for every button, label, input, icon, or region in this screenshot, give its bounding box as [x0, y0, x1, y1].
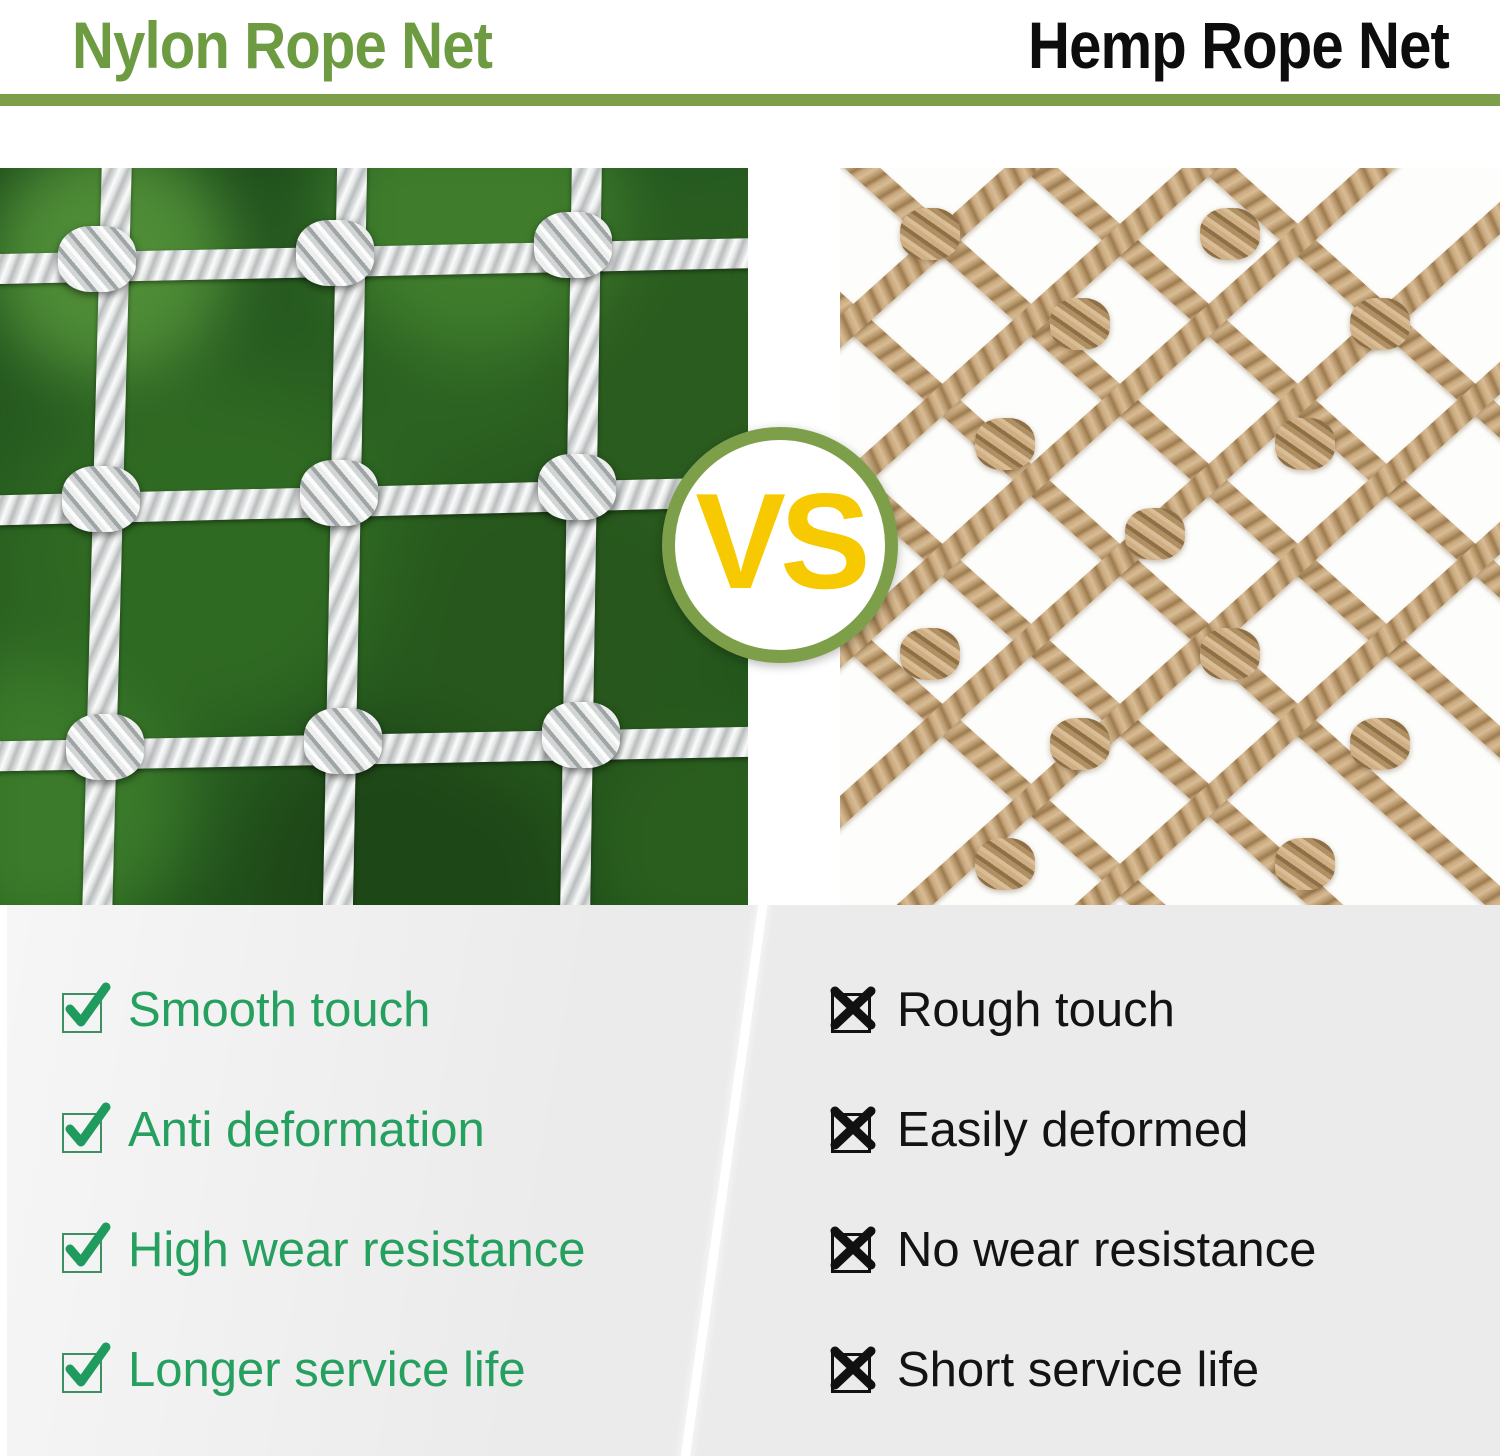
checkbox-checked-icon — [60, 1107, 106, 1153]
versus-label: VS — [695, 473, 864, 609]
list-item-label: Easily deformed — [897, 1102, 1248, 1158]
list-item: Longer service life — [60, 1331, 526, 1409]
list-item: No wear resistance — [829, 1211, 1316, 1289]
comparison-infographic: Nylon Rope Net Hemp Rope Net — [0, 0, 1500, 1456]
list-item: Easily deformed — [829, 1091, 1248, 1169]
hemp-rope-net-photo — [840, 168, 1500, 905]
checkbox-crossed-icon — [829, 1107, 875, 1153]
list-item-label: No wear resistance — [897, 1222, 1316, 1278]
list-item-label: Smooth touch — [128, 982, 430, 1038]
checkbox-crossed-icon — [829, 987, 875, 1033]
list-item-label: Longer service life — [128, 1342, 526, 1398]
hemp-rope-lattice — [840, 168, 1500, 905]
list-item: Rough touch — [829, 971, 1175, 1049]
comparison-panel: Smooth touch Anti deformation — [7, 905, 1500, 1456]
list-item: High wear resistance — [60, 1211, 586, 1289]
list-item: Anti deformation — [60, 1091, 485, 1169]
checkbox-checked-icon — [60, 1227, 106, 1273]
page-title-nylon: Nylon Rope Net — [72, 0, 492, 92]
checkbox-checked-icon — [60, 987, 106, 1033]
list-item: Short service life — [829, 1331, 1259, 1409]
versus-badge: VS — [662, 427, 898, 663]
header-divider-bar — [0, 94, 1500, 106]
nylon-rope-grid — [0, 168, 748, 905]
nylon-rope-net-photo — [0, 168, 748, 905]
header: Nylon Rope Net Hemp Rope Net — [0, 0, 1500, 94]
list-item-label: High wear resistance — [128, 1222, 586, 1278]
list-item-label: Rough touch — [897, 982, 1175, 1038]
list-item: Smooth touch — [60, 971, 430, 1049]
list-item-label: Anti deformation — [128, 1102, 485, 1158]
list-item-label: Short service life — [897, 1342, 1259, 1398]
column-divider — [672, 905, 776, 1456]
page-title-hemp: Hemp Rope Net — [1028, 0, 1449, 92]
checkbox-crossed-icon — [829, 1227, 875, 1273]
checkbox-crossed-icon — [829, 1347, 875, 1393]
checkbox-checked-icon — [60, 1347, 106, 1393]
